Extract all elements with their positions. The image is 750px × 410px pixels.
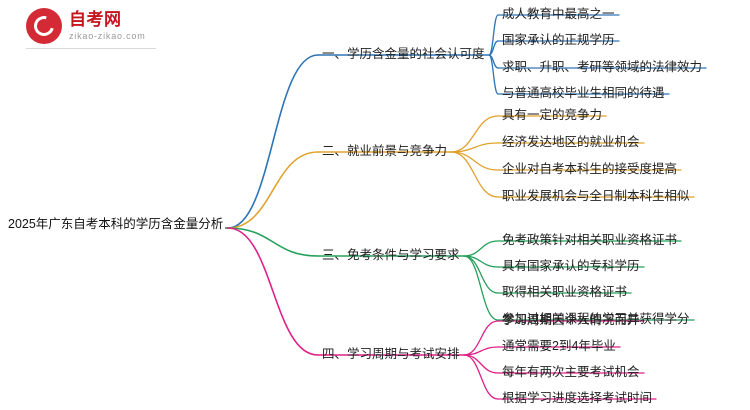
mindmap-connector (451, 152, 498, 170)
leaf-label-4-3: 每年有两次主要考试机会 (502, 366, 640, 379)
branch-label-3: 三、免考条件与学习要求 (322, 249, 460, 262)
leaf-label-3-1: 免考政策针对相关职业资格证书 (502, 234, 677, 247)
mindmap-connector (464, 321, 498, 355)
leaf-label-3-2: 具有国家承认的专科学历 (502, 260, 640, 273)
leaf-label-1-3: 求职、升职、考研等领域的法律效力 (502, 61, 702, 74)
leaf-label-4-4: 根据学习进度选择考试时间 (502, 392, 652, 405)
mindmap-connector (464, 241, 498, 256)
leaf-label-2-4: 职业发展机会与全日制本科生相似 (502, 190, 690, 203)
branch-label-2: 二、就业前景与竞争力 (322, 145, 447, 158)
leaf-label-1-1: 成人教育中最高之一 (502, 8, 615, 21)
leaf-label-2-2: 经济发达地区的就业机会 (502, 136, 640, 149)
leaf-label-2-1: 具有一定的竞争力 (502, 109, 602, 122)
mindmap-connector (228, 55, 318, 228)
branch-label-4: 四、学习周期与考试安排 (322, 348, 460, 361)
leaf-label-2-3: 企业对自考本科生的接受度提高 (502, 163, 677, 176)
mindmap-connector (464, 355, 498, 373)
leaf-label-1-4: 与普通高校毕业生相同的待遇 (502, 87, 665, 100)
leaf-label-3-3: 取得相关职业资格证书 (502, 286, 627, 299)
mindmap-connector (228, 152, 318, 228)
leaf-label-4-1: 学习周期因个人情况而异 (502, 314, 640, 327)
leaf-label-4-2: 通常需要2到4年毕业 (502, 340, 616, 353)
mindmap-connector (464, 256, 498, 320)
leaf-label-1-2: 国家承认的正规学历 (502, 34, 615, 47)
mindmap-connector (451, 116, 498, 152)
mindmap-connector (464, 355, 498, 399)
mindmap-connector (228, 228, 318, 355)
mindmap-root-label: 2025年广东自考本科的学历含金量分析 (8, 218, 223, 231)
mindmap-connector (451, 152, 498, 197)
branch-label-1: 一、学历含金量的社会认可度 (322, 48, 485, 61)
